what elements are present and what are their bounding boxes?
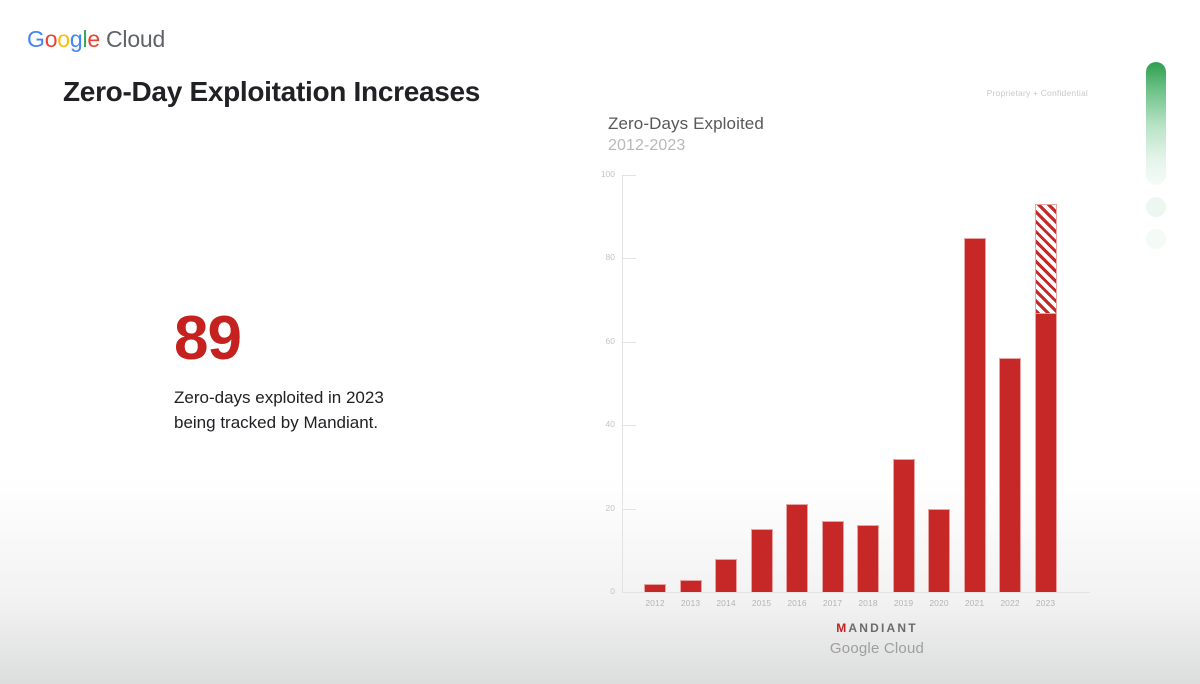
- x-axis-label: 2017: [816, 598, 850, 608]
- logo-letter-o2: o: [57, 26, 70, 52]
- y-axis-line: [622, 175, 623, 592]
- bar[interactable]: [928, 509, 950, 592]
- y-axis-tick: 20: [622, 509, 636, 510]
- x-axis-label: 2015: [745, 598, 779, 608]
- stat-caption-line-1: Zero-days exploited in 2023: [174, 386, 504, 411]
- x-axis-label: 2014: [709, 598, 743, 608]
- logo-letter-g2: g: [70, 26, 83, 52]
- y-axis-tick: 40: [622, 425, 636, 426]
- y-axis-tick: 60: [622, 342, 636, 343]
- x-axis-label: 2013: [674, 598, 708, 608]
- presentation-slide: GoogleCloud Zero-Day Exploitation Increa…: [0, 0, 1200, 684]
- confidential-note: Proprietary + Confidential: [987, 88, 1088, 98]
- logo-letter-g: G: [27, 26, 45, 52]
- x-axis-label: 2021: [958, 598, 992, 608]
- progress-rail-dot-1[interactable]: [1146, 197, 1166, 217]
- stat-caption-line-2: being tracked by Mandiant.: [174, 411, 504, 436]
- y-axis-tick: 80: [622, 258, 636, 259]
- bar[interactable]: [822, 521, 844, 592]
- x-axis-line: [622, 592, 1090, 593]
- slide-headline: Zero-Day Exploitation Increases: [63, 76, 480, 108]
- y-axis-tick-label: 60: [606, 336, 615, 346]
- progress-rail-pill[interactable]: [1146, 62, 1166, 185]
- x-axis-label: 2012: [638, 598, 672, 608]
- chart-plot-area: 020406080100 201220132014201520162017201…: [622, 169, 1092, 599]
- bar[interactable]: [964, 238, 986, 592]
- bar-solid-segment[interactable]: [1035, 313, 1057, 592]
- footer-google-cloud: Google Cloud: [638, 640, 1116, 657]
- bar[interactable]: [857, 525, 879, 592]
- y-axis-tick-label: 80: [606, 252, 615, 262]
- bar[interactable]: [751, 529, 773, 592]
- chart-subtitle: 2012-2023: [608, 137, 685, 155]
- x-axis-label: 2022: [993, 598, 1027, 608]
- y-axis-tick: 100: [622, 175, 636, 176]
- bar[interactable]: [644, 584, 666, 592]
- y-axis-tick-label: 20: [606, 503, 615, 513]
- logo-letter-o1: o: [45, 26, 58, 52]
- chart-title: Zero-Days Exploited: [608, 114, 764, 134]
- stat-block: 89 Zero-days exploited in 2023 being tra…: [174, 308, 504, 435]
- logo-letter-e: e: [87, 26, 100, 52]
- x-axis-label: 2019: [887, 598, 921, 608]
- chart-footer: MANDIANT Google Cloud: [586, 621, 1116, 657]
- y-axis-tick: 0: [622, 592, 636, 593]
- logo-word-cloud: Cloud: [106, 26, 165, 52]
- progress-rail-dot-2[interactable]: [1146, 229, 1166, 249]
- y-axis-tick-label: 0: [610, 586, 615, 596]
- mandiant-initial: M: [836, 621, 848, 635]
- y-axis-tick-label: 40: [606, 419, 615, 429]
- mandiant-rest: ANDIANT: [848, 621, 917, 635]
- mandiant-wordmark: MANDIANT: [638, 621, 1116, 635]
- bar[interactable]: [999, 358, 1021, 592]
- bar[interactable]: [680, 580, 702, 593]
- x-axis-label: 2023: [1029, 598, 1063, 608]
- stat-caption: Zero-days exploited in 2023 being tracke…: [174, 386, 504, 435]
- progress-rail[interactable]: [1146, 62, 1166, 249]
- bar-hatched-segment[interactable]: [1035, 204, 1057, 312]
- x-axis-label: 2018: [851, 598, 885, 608]
- google-cloud-logo: GoogleCloud: [27, 26, 165, 53]
- x-axis-label: 2020: [922, 598, 956, 608]
- y-axis-tick-label: 100: [601, 169, 615, 179]
- bar[interactable]: [715, 559, 737, 592]
- stat-number: 89: [174, 308, 504, 370]
- bar[interactable]: [786, 504, 808, 592]
- chart-panel: Proprietary + Confidential Zero-Days Exp…: [586, 74, 1116, 654]
- bar-series: [644, 175, 1090, 592]
- x-axis-label: 2016: [780, 598, 814, 608]
- bar[interactable]: [893, 459, 915, 592]
